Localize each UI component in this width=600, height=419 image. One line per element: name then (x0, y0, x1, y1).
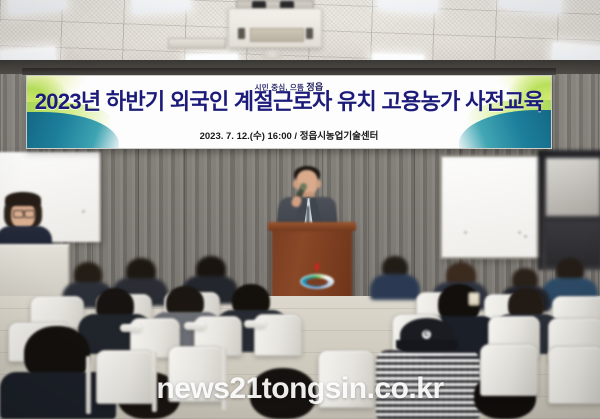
event-banner: 시민 중심, 으뜸 정읍 2023년 하반기 외국인 계절근로자 유치 고용농가… (26, 75, 552, 149)
smoke-detector-icon (262, 50, 282, 60)
auditorium-seat (168, 346, 224, 402)
seat-leg (222, 348, 227, 410)
audience-head (250, 368, 316, 419)
audience-torso (370, 274, 420, 300)
seated-woman-fringe (5, 192, 41, 206)
seat-leg (86, 356, 91, 414)
eyeglasses-bridge (22, 212, 24, 213)
ac-corner-vent (238, 28, 245, 39)
eyeglasses-icon (24, 210, 35, 218)
auditorium-seat (548, 346, 600, 404)
photo-scene: 시민 중심, 으뜸 정읍 2023년 하반기 외국인 계절근로자 유치 고용농가… (0, 0, 600, 419)
checkered-shirt (376, 350, 480, 419)
ceiling-air-slot (168, 38, 226, 49)
auditorium-seat (318, 350, 374, 408)
auditorium-seat (96, 350, 154, 404)
banner-title: 2023년 하반기 외국인 계절근로자 유치 고용농가 사전교육 (27, 91, 551, 113)
speaker-ear (316, 180, 321, 188)
seat-armrest (184, 322, 206, 330)
jeongeup-city-emblem-icon (300, 262, 334, 290)
seat-leg (152, 352, 157, 412)
hair-clip-icon (468, 292, 480, 306)
door-glass-panel (546, 158, 600, 216)
auditorium-seat (480, 344, 538, 396)
banner-subtitle: 2023. 7. 12.(수) 16:00 / 정읍시농업기술센터 (27, 128, 551, 142)
banner-mount-rail (22, 68, 556, 75)
microphone-head (300, 183, 307, 190)
ac-vent (250, 28, 304, 42)
speaker-ear (293, 180, 298, 188)
seat-armrest (120, 324, 142, 332)
podium-top-surface (268, 222, 356, 231)
cap-logo: C (422, 330, 431, 339)
seat-armrest (244, 320, 266, 328)
ac-corner-vent (306, 28, 313, 39)
